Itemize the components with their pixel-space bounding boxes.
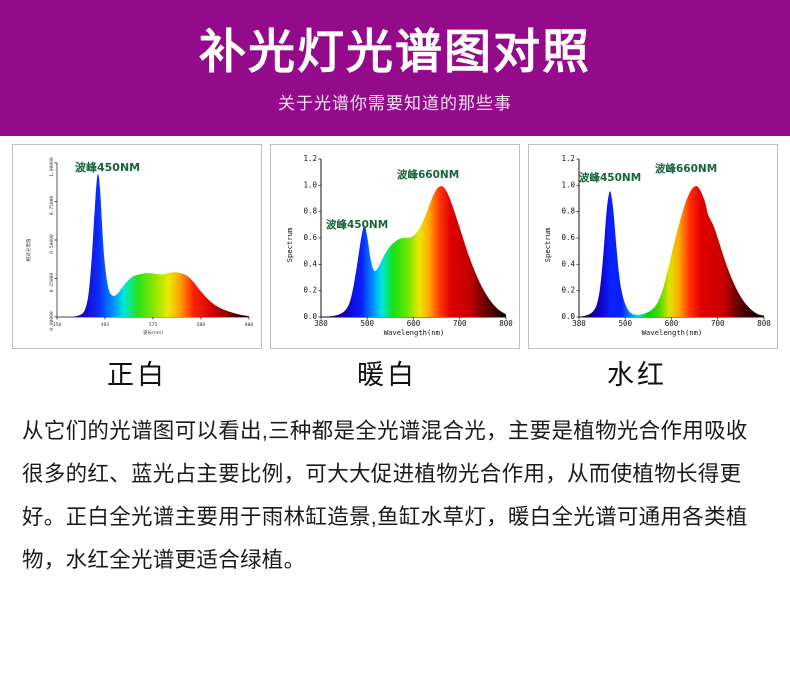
description-block: 从它们的光谱图可以看出,三种都是全光谱混合光，主要是植物光合作用吸收很多的红、蓝… bbox=[0, 392, 790, 582]
infographic-page: 补光灯光谱图对照 关于光谱你需要知道的那些事 bbox=[0, 0, 790, 675]
c3xticks-label: 700 bbox=[711, 319, 725, 328]
c3yticks-label: 0.8 bbox=[561, 207, 575, 216]
chart-3-annotation-660nm: 波峰660NM bbox=[655, 162, 717, 175]
c3yticks-label: 1.0 bbox=[561, 180, 575, 189]
c1xticks-label: 800 bbox=[245, 322, 254, 328]
c1yticks-label: 0.25000 bbox=[49, 273, 55, 293]
caption-pure-white: 正白 bbox=[12, 353, 262, 392]
chart-1-annotation-450nm: 波峰450NM bbox=[75, 160, 140, 174]
c2xticks-label: 700 bbox=[453, 319, 467, 328]
chart-2-annotation-660nm: 波峰660NM bbox=[397, 168, 459, 181]
spectrum-chart-warm-white: 0.00.20.40.60.81.01.2 380500600700800 Sp… bbox=[270, 144, 520, 349]
chart-2-svg: 0.00.20.40.60.81.01.2 380500600700800 Sp… bbox=[271, 145, 519, 348]
c1yticks-label: 0.50000 bbox=[49, 234, 55, 254]
c2yticks-label: 0.8 bbox=[303, 207, 317, 216]
chart-2-annotation-450nm: 波峰450NM bbox=[326, 218, 388, 231]
caption-warm-white: 暖白 bbox=[262, 353, 512, 392]
c3xticks-label: 600 bbox=[665, 319, 679, 328]
c1yticks-label: 1.00000 bbox=[49, 157, 55, 177]
c2xticks-label: 380 bbox=[314, 319, 328, 328]
spectrum-chart-pure-white: 0.000000.250000.500000.750001.00000 3504… bbox=[12, 144, 262, 349]
c2yticks-label: 1.0 bbox=[303, 180, 317, 189]
c2yticks-label: 0.6 bbox=[303, 233, 317, 242]
c2xticks-label: 800 bbox=[499, 319, 513, 328]
c2yticks-label: 0.2 bbox=[303, 286, 317, 295]
c1yticks-label: 0.75000 bbox=[49, 196, 55, 216]
spectrum-chart-pink-red: 0.00.20.40.60.81.01.2 380500600700800 Sp… bbox=[528, 144, 778, 349]
spectrum-chart-row: 0.000000.250000.500000.750001.00000 3504… bbox=[0, 136, 790, 349]
chart-2-y-axis-label: Spectrum bbox=[285, 228, 294, 263]
chart-3-annotation-450nm: 波峰450NM bbox=[579, 171, 641, 184]
chart-3-x-axis-label: Wavelength(nm) bbox=[642, 328, 703, 337]
c2xticks-label: 500 bbox=[360, 319, 374, 328]
chart-2-spectrum-area bbox=[321, 186, 506, 317]
c1xticks-label: 350 bbox=[53, 322, 62, 328]
chart-3-x-ticks: 380500600700800 bbox=[572, 317, 771, 328]
page-subtitle: 关于光谱你需要知道的那些事 bbox=[278, 89, 512, 114]
chart-1-y-ticks: 0.000000.250000.500000.750001.00000 bbox=[49, 157, 57, 331]
c3xticks-label: 380 bbox=[572, 319, 586, 328]
header-banner: 补光灯光谱图对照 关于光谱你需要知道的那些事 bbox=[0, 0, 790, 136]
chart-2-x-axis-label: Wavelength(nm) bbox=[384, 328, 445, 337]
chart-1-y-axis-label: 相对光谱值 bbox=[25, 238, 32, 261]
c3yticks-label: 1.2 bbox=[561, 154, 575, 163]
chart-1-spectrum-area bbox=[57, 174, 249, 317]
chart-3-svg: 0.00.20.40.60.81.01.2 380500600700800 Sp… bbox=[529, 145, 777, 348]
c3xticks-label: 500 bbox=[618, 319, 632, 328]
chart-caption-row: 正白 暖白 水红 bbox=[0, 349, 790, 392]
caption-pink-red: 水红 bbox=[512, 353, 762, 392]
chart-1-x-ticks: 350463575688800 bbox=[53, 317, 254, 328]
description-paragraph: 从它们的光谱图可以看出,三种都是全光谱混合光，主要是植物光合作用吸收很多的红、蓝… bbox=[22, 410, 768, 582]
chart-3-y-axis-label: Spectrum bbox=[543, 228, 552, 263]
chart-3-y-ticks: 0.00.20.40.60.81.01.2 bbox=[561, 154, 579, 321]
chart-2-y-ticks: 0.00.20.40.60.81.01.2 bbox=[303, 154, 321, 321]
c2yticks-label: 0.4 bbox=[303, 259, 317, 268]
c2yticks-label: 1.2 bbox=[303, 154, 317, 163]
c3yticks-label: 0.4 bbox=[561, 259, 575, 268]
chart-3-spectrum-area bbox=[579, 186, 764, 317]
c1xticks-label: 688 bbox=[197, 322, 206, 328]
c2xticks-label: 600 bbox=[407, 319, 421, 328]
chart-1-svg: 0.000000.250000.500000.750001.00000 3504… bbox=[13, 145, 261, 348]
chart-2-x-ticks: 380500600700800 bbox=[314, 317, 513, 328]
c3yticks-label: 0.2 bbox=[561, 286, 575, 295]
c3yticks-label: 0.6 bbox=[561, 233, 575, 242]
c1xticks-label: 575 bbox=[149, 322, 158, 328]
chart-1-x-axis-label: 波长(nm) bbox=[143, 329, 163, 336]
c3xticks-label: 800 bbox=[757, 319, 771, 328]
c1xticks-label: 463 bbox=[101, 322, 110, 328]
page-title: 补光灯光谱图对照 bbox=[199, 26, 591, 78]
